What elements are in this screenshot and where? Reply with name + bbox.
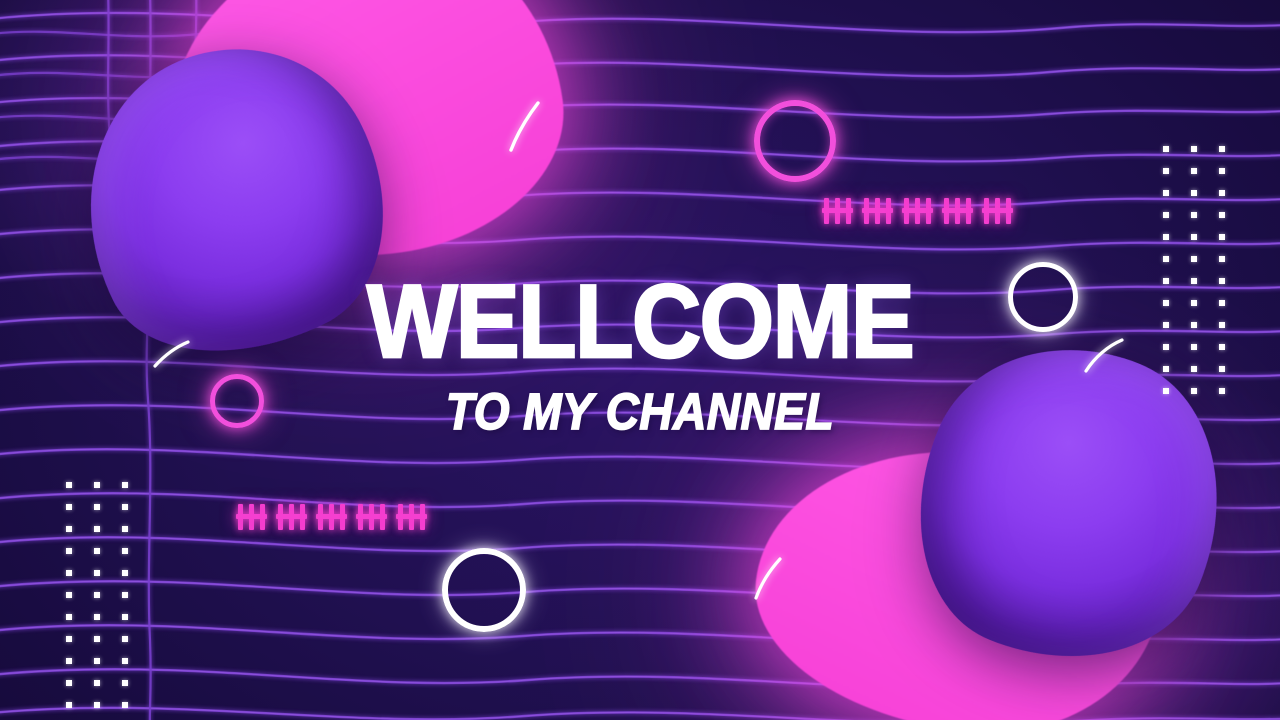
page-subtitle: TO MY CHANNEL [0, 386, 1280, 437]
swoosh-bottom-right-icon [752, 556, 786, 602]
ring-pink-top-icon [754, 100, 836, 182]
dot-grid-left-icon [66, 482, 128, 720]
swoosh-top-left-icon [506, 100, 546, 154]
title-block: WELLCOME TO MY CHANNEL [0, 272, 1280, 432]
ring-white-bottom-icon [442, 548, 526, 632]
tally-marks-left-icon [238, 504, 426, 530]
tally-marks-top-icon [824, 198, 1012, 224]
banner-canvas: WELLCOME TO MY CHANNEL [0, 0, 1280, 720]
page-title: WELLCOME [0, 272, 1280, 371]
